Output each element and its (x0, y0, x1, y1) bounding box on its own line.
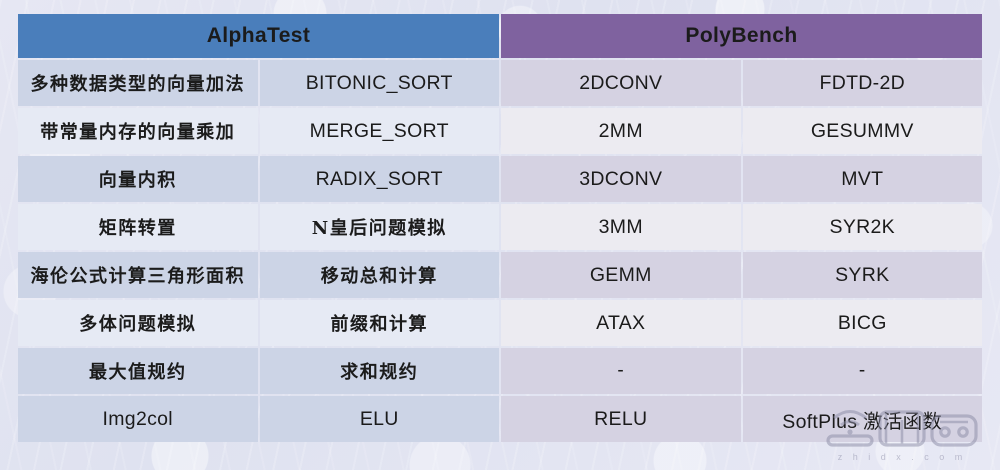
table-row: 多体问题模拟前缀和计算ATAXBICG (18, 300, 982, 346)
table-cell: GEMM (501, 252, 741, 298)
table-cell: 3MM (501, 204, 741, 250)
table-cell: SYR2K (743, 204, 983, 250)
table-cell: RADIX_SORT (260, 156, 500, 202)
table-row: Img2colELURELUSoftPlus 激活函数 (18, 396, 982, 442)
table-cell: 最大值规约 (18, 348, 258, 394)
table-cell: ELU (260, 396, 500, 442)
table-cell: 求和规约 (260, 348, 500, 394)
table-cell: 2DCONV (501, 60, 741, 106)
table-cell: RELU (501, 396, 741, 442)
table-cell: FDTD-2D (743, 60, 983, 106)
table-cell: - (743, 348, 983, 394)
table-cell: 移动总和计算 (260, 252, 500, 298)
table-body: 多种数据类型的向量加法BITONIC_SORT2DCONVFDTD-2D带常量内… (18, 60, 982, 442)
benchmark-comparison-table: AlphaTest PolyBench 多种数据类型的向量加法BITONIC_S… (16, 12, 984, 444)
table-row: 海伦公式计算三角形面积移动总和计算GEMMSYRK (18, 252, 982, 298)
table-cell: SYRK (743, 252, 983, 298)
table-cell: - (501, 348, 741, 394)
header-row: AlphaTest PolyBench (18, 14, 982, 58)
table-cell: Img2col (18, 396, 258, 442)
watermark-url: z h i d x . c o m (814, 452, 990, 462)
table-row: 矩阵转置N皇后问题模拟3MMSYR2K (18, 204, 982, 250)
table-row: 向量内积RADIX_SORT3DCONVMVT (18, 156, 982, 202)
table-cell: 海伦公式计算三角形面积 (18, 252, 258, 298)
table-cell: 向量内积 (18, 156, 258, 202)
table-cell: 带常量内存的向量乘加 (18, 108, 258, 154)
table-cell: GESUMMV (743, 108, 983, 154)
table-cell: ATAX (501, 300, 741, 346)
table-cell: 矩阵转置 (18, 204, 258, 250)
table-cell: 2MM (501, 108, 741, 154)
header-alphatest: AlphaTest (18, 14, 499, 58)
table-row: 最大值规约求和规约-- (18, 348, 982, 394)
table-cell: N皇后问题模拟 (260, 204, 500, 250)
table-cell: 多体问题模拟 (18, 300, 258, 346)
table-row: 多种数据类型的向量加法BITONIC_SORT2DCONVFDTD-2D (18, 60, 982, 106)
table-cell: MERGE_SORT (260, 108, 500, 154)
table-cell: SoftPlus 激活函数 (743, 396, 983, 442)
table-cell: 3DCONV (501, 156, 741, 202)
table-cell: 前缀和计算 (260, 300, 500, 346)
table-cell: 多种数据类型的向量加法 (18, 60, 258, 106)
table-row: 带常量内存的向量乘加MERGE_SORT2MMGESUMMV (18, 108, 982, 154)
header-polybench: PolyBench (501, 14, 982, 58)
table-cell: MVT (743, 156, 983, 202)
table-header: AlphaTest PolyBench (18, 14, 982, 58)
table-cell: BITONIC_SORT (260, 60, 500, 106)
table-cell: BICG (743, 300, 983, 346)
